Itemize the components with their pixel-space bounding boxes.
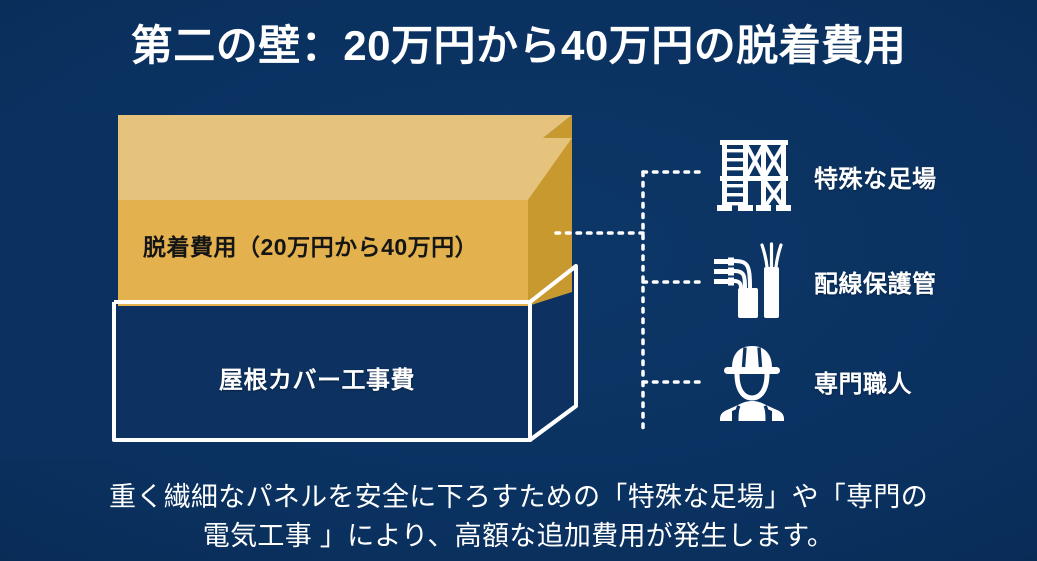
page-title: 第二の壁：20万円から40万円の脱着費用	[0, 22, 1037, 70]
slide-canvas: 第二の壁：20万円から40万円の脱着費用	[0, 0, 1037, 561]
gold-block-label: 脱着費用（20万円から40万円）	[143, 228, 478, 262]
item-label-worker: 専門職人	[814, 364, 912, 399]
base-block-label: 屋根カバー工事費	[219, 360, 415, 395]
left-mask	[0, 110, 118, 460]
item-row-conduit[interactable]: 配線保護管	[706, 235, 937, 327]
scaffolding-icon	[706, 130, 798, 222]
item-row-worker[interactable]: 専門職人	[706, 335, 912, 427]
item-row-scaffolding[interactable]: 特殊な足場	[706, 130, 937, 222]
caption-line-1: 重く繊細なパネルを安全に下ろすための「特殊な足場」や「専門の	[0, 478, 1037, 517]
item-label-scaffolding: 特殊な足場	[814, 159, 937, 194]
worker-icon	[706, 335, 798, 427]
caption-line-2: 電気工事 」により、高額な追加費用が発生します。	[0, 517, 1037, 556]
gold-block-left	[118, 138, 572, 306]
gold-top-face-fixed	[118, 138, 572, 200]
conduit-icon	[706, 235, 798, 327]
item-label-conduit: 配線保護管	[814, 264, 937, 299]
caption: 重く繊細なパネルを安全に下ろすための「特殊な足場」や「専門の 電気工事 」により…	[0, 478, 1037, 556]
cost-stack-diagram: 脱着費用（20万円から40万円） 屋根カバー工事費	[0, 110, 1037, 460]
